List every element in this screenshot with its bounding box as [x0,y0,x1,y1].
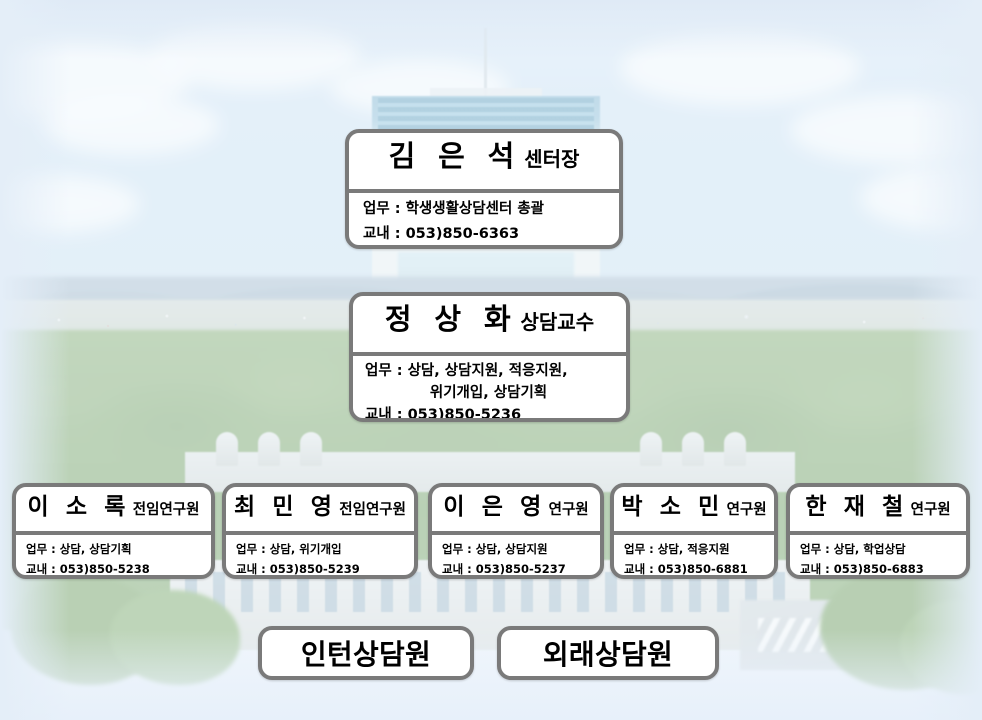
cloud-shape [40,95,220,155]
roof-vent [724,432,746,466]
roof-vent [300,432,322,466]
node-header: 한 재 철 연구원 [790,487,966,531]
phone-line: 교내 : 053)850-5236 [365,404,626,422]
duty-line-2: 위기개입, 상담기획 [365,382,626,404]
node-details: 업무 : 상담, 상담기획 교내 : 053)850-5238 [16,535,211,579]
duty-line: 업무 : 학생생활상담센터 총괄 [363,197,619,222]
phone-line: 교내 : 053)850-5239 [236,559,414,579]
person-name: 정 상 화 [385,296,521,338]
person-name: 최 민 영 [234,487,339,521]
org-node-external-counselor[interactable]: 외래상담원 [497,626,719,680]
duty-line: 업무 : 상담, 위기개입 [236,539,414,559]
node-header: 이 소 록 전임연구원 [16,487,211,531]
roof-vent [640,432,662,466]
org-node-staff[interactable]: 이 은 영 연구원 업무 : 상담, 상담지원 교내 : 053)850-523… [428,483,604,579]
duty-line: 업무 : 상담, 상담기획 [26,539,211,559]
duty-line-1: 업무 : 상담, 상담지원, 적응지원, [365,360,626,382]
node-details: 업무 : 상담, 학업상담 교내 : 053)850-6883 [790,535,966,579]
node-details: 업무 : 학생생활상담센터 총괄 교내 : 053)850-6363 [349,193,619,247]
roof-vent [216,432,238,466]
org-node-staff[interactable]: 최 민 영 전임연구원 업무 : 상담, 위기개입 교내 : 053)850-5… [222,483,418,579]
node-details: 업무 : 상담, 적응지원 교내 : 053)850-6881 [614,535,774,579]
person-name: 한 재 철 [805,487,910,521]
person-name: 이 소 록 [28,487,133,521]
phone-line: 교내 : 053)850-6881 [624,559,774,579]
node-details: 업무 : 상담, 위기개입 교내 : 053)850-5239 [226,535,414,579]
person-role: 전임연구원 [339,498,406,519]
cloud-shape [150,20,360,90]
org-node-director[interactable]: 김 은 석 센터장 업무 : 학생생활상담센터 총괄 교내 : 053)850-… [345,129,623,249]
cloud-shape [620,30,860,106]
person-role: 연구원 [911,498,951,519]
node-header: 이 은 영 연구원 [432,487,600,531]
org-node-staff[interactable]: 박 소 민 연구원 업무 : 상담, 적응지원 교내 : 053)850-688… [610,483,778,579]
phone-line: 교내 : 053)850-6363 [363,222,619,247]
duty-line: 업무 : 상담, 상담지원 [442,539,600,559]
roof-vent [682,432,704,466]
person-name: 박 소 민 [621,487,726,521]
org-node-intern-counselor[interactable]: 인턴상담원 [258,626,474,680]
org-node-professor[interactable]: 정 상 화 상담교수 업무 : 상담, 상담지원, 적응지원, 위기개입, 상담… [349,292,630,422]
node-label: 인턴상담원 [301,633,431,673]
person-name: 김 은 석 [389,133,525,175]
node-label: 외래상담원 [543,633,673,673]
org-node-staff[interactable]: 한 재 철 연구원 업무 : 상담, 학업상담 교내 : 053)850-688… [786,483,970,579]
person-role: 연구원 [549,498,589,519]
roof-vent [258,432,280,466]
org-node-staff[interactable]: 이 소 록 전임연구원 업무 : 상담, 상담기획 교내 : 053)850-5… [12,483,215,579]
person-role: 연구원 [727,498,767,519]
person-name: 이 은 영 [443,487,548,521]
duty-line: 업무 : 상담, 학업상담 [800,539,966,559]
person-role: 상담교수 [521,306,595,335]
node-header: 최 민 영 전임연구원 [226,487,414,531]
node-details: 업무 : 상담, 상담지원, 적응지원, 위기개입, 상담기획 교내 : 053… [353,356,626,422]
node-header: 박 소 민 연구원 [614,487,774,531]
org-chart-image: 김 은 석 센터장 업무 : 학생생활상담센터 총괄 교내 : 053)850-… [0,0,982,720]
person-role: 전임연구원 [133,498,200,519]
duty-line: 업무 : 상담, 적응지원 [624,539,774,559]
node-details: 업무 : 상담, 상담지원 교내 : 053)850-5237 [432,535,600,579]
person-role: 센터장 [524,143,579,172]
node-header: 김 은 석 센터장 [349,133,619,189]
node-header: 정 상 화 상담교수 [353,296,626,352]
phone-line: 교내 : 053)850-5238 [26,559,211,579]
phone-line: 교내 : 053)850-5237 [442,559,600,579]
phone-line: 교내 : 053)850-6883 [800,559,966,579]
